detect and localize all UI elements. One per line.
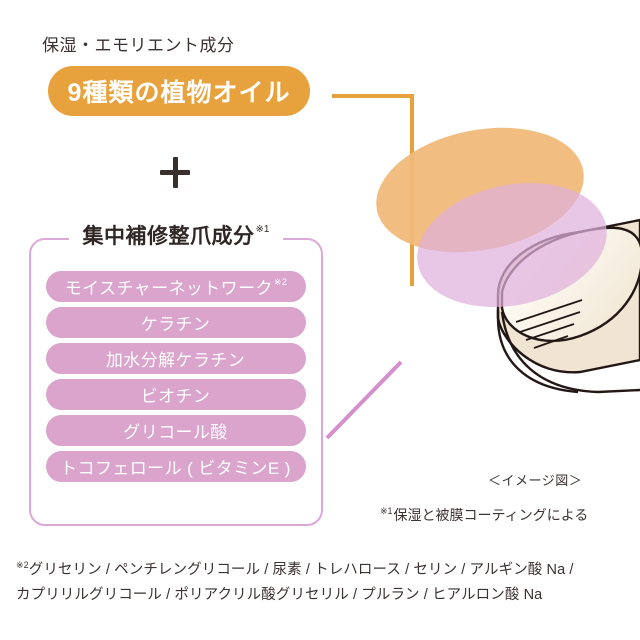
ingredient-tag-list: モイスチャーネットワーク ※2 ケラチン 加水分解ケラチン ビオチン グリコール… [46, 271, 306, 482]
ingredient-tag-label: モイスチャーネットワーク [65, 274, 273, 299]
footnote-two-line-1: ※2グリセリン / ペンチレングリコール / 尿素 / トレハロース / セリン… [16, 553, 631, 583]
ingredient-tag: 加水分解ケラチン [46, 343, 306, 374]
footnote-one: ※1保湿と被膜コーティングによる [380, 505, 588, 525]
infographic-canvas: 保湿・エモリエント成分 9種類の植物オイル 集中補修整爪成分 ※1 モイスチャー… [0, 0, 640, 640]
footnote-one-text: 保湿と被膜コーティングによる [394, 507, 589, 523]
ingredient-tag: モイスチャーネットワーク ※2 [46, 271, 306, 302]
fingertip-illustration [330, 60, 640, 500]
ingredient-tag: トコフェロール ( ビタミンE ) [46, 451, 306, 482]
illustration-caption: ＜イメージ図＞ [488, 470, 582, 489]
ingredient-tag: ビオチン [46, 379, 306, 410]
ingredient-tag-superscript: ※2 [274, 276, 287, 288]
plus-symbol [160, 155, 196, 191]
footnote-two: ※2グリセリン / ペンチレングリコール / 尿素 / トレハロース / セリン… [16, 553, 631, 608]
footnote-two-marker: ※2 [16, 560, 29, 570]
ingredient-tag-label: トコフェロール ( ビタミンE ) [60, 454, 291, 479]
ingredient-tag-label: グリコール酸 [123, 418, 227, 443]
ingredient-tag: グリコール酸 [46, 415, 306, 446]
footnote-two-line-2: カプリリルグリコール / ポリアクリル酸グリセリル / プルラン / ヒアルロン… [16, 583, 631, 608]
ingredient-tag-label: 加水分解ケラチン [106, 346, 245, 371]
ingredient-tag: ケラチン [46, 307, 306, 338]
footnote-one-marker: ※1 [380, 506, 393, 516]
footnote-two-text-1: グリセリン / ペンチレングリコール / 尿素 / トレハロース / セリン /… [29, 562, 574, 578]
ingredient-tag-label: ビオチン [141, 382, 211, 407]
ingredient-tag-label: ケラチン [141, 310, 211, 335]
